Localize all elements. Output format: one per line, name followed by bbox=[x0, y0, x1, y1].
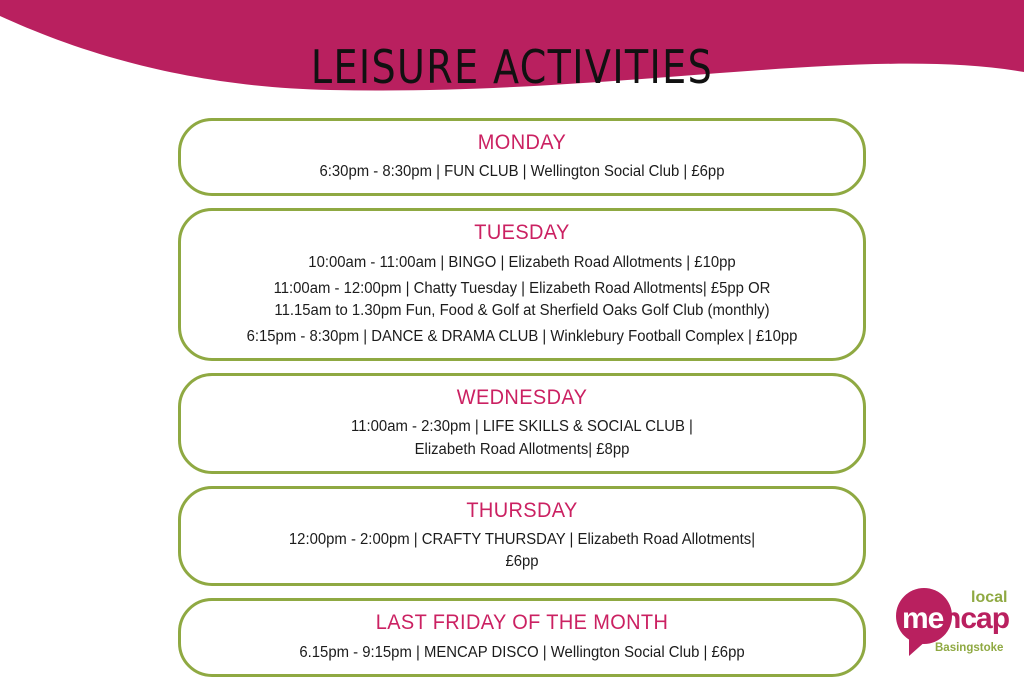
activity-line: 6:15pm - 8:30pm | DANCE & DRAMA CLUB | W… bbox=[220, 327, 825, 347]
activity-line: 11.15am to 1.30pm Fun, Food & Golf at Sh… bbox=[220, 301, 825, 321]
day-title: MONDAY bbox=[223, 130, 822, 156]
day-card-last-friday[interactable]: LAST FRIDAY OF THE MONTH 6.15pm - 9:15pm… bbox=[178, 598, 866, 676]
activity-line: £6pp bbox=[220, 552, 825, 572]
day-card-wednesday[interactable]: WEDNESDAY 11:00am - 2:30pm | LIFE SKILLS… bbox=[178, 373, 866, 474]
logo-wordmark-ncap: ncap bbox=[943, 602, 1010, 635]
day-title: TUESDAY bbox=[223, 220, 822, 246]
day-card-monday[interactable]: MONDAY 6:30pm - 8:30pm | FUN CLUB | Well… bbox=[178, 118, 866, 196]
day-card-thursday[interactable]: THURSDAY 12:00pm - 2:00pm | CRAFTY THURS… bbox=[178, 486, 866, 587]
activities-list: MONDAY 6:30pm - 8:30pm | FUN CLUB | Well… bbox=[178, 118, 866, 683]
day-title: THURSDAY bbox=[223, 498, 822, 524]
day-title: WEDNESDAY bbox=[223, 385, 822, 411]
day-title: LAST FRIDAY OF THE MONTH bbox=[223, 610, 822, 636]
logo-wordmark-me: me bbox=[902, 602, 944, 635]
leisure-activities-poster: LEISURE ACTIVITIES MONDAY 6:30pm - 8:30p… bbox=[0, 0, 1024, 683]
activity-line: 11:00am - 12:00pm | Chatty Tuesday | Eli… bbox=[220, 279, 825, 299]
activity-line: Elizabeth Road Allotments| £8pp bbox=[220, 440, 825, 460]
activity-line: 12:00pm - 2:00pm | CRAFTY THURSDAY | Eli… bbox=[220, 530, 825, 550]
logo-region-text: Basingstoke bbox=[935, 642, 1003, 654]
activity-line: 10:00am - 11:00am | BINGO | Elizabeth Ro… bbox=[220, 253, 825, 273]
page-title: LEISURE ACTIVITIES bbox=[41, 40, 983, 94]
mencap-logo-icon: local me ncap Basingstoke bbox=[893, 578, 1019, 664]
activity-line: 6.15pm - 9:15pm | MENCAP DISCO | Welling… bbox=[220, 643, 825, 663]
activity-line: 11:00am - 2:30pm | LIFE SKILLS & SOCIAL … bbox=[220, 417, 825, 437]
day-card-tuesday[interactable]: TUESDAY 10:00am - 11:00am | BINGO | Eliz… bbox=[178, 208, 866, 361]
mencap-local-logo[interactable]: local me ncap Basingstoke bbox=[893, 578, 1019, 664]
activity-line: 6:30pm - 8:30pm | FUN CLUB | Wellington … bbox=[220, 162, 825, 182]
